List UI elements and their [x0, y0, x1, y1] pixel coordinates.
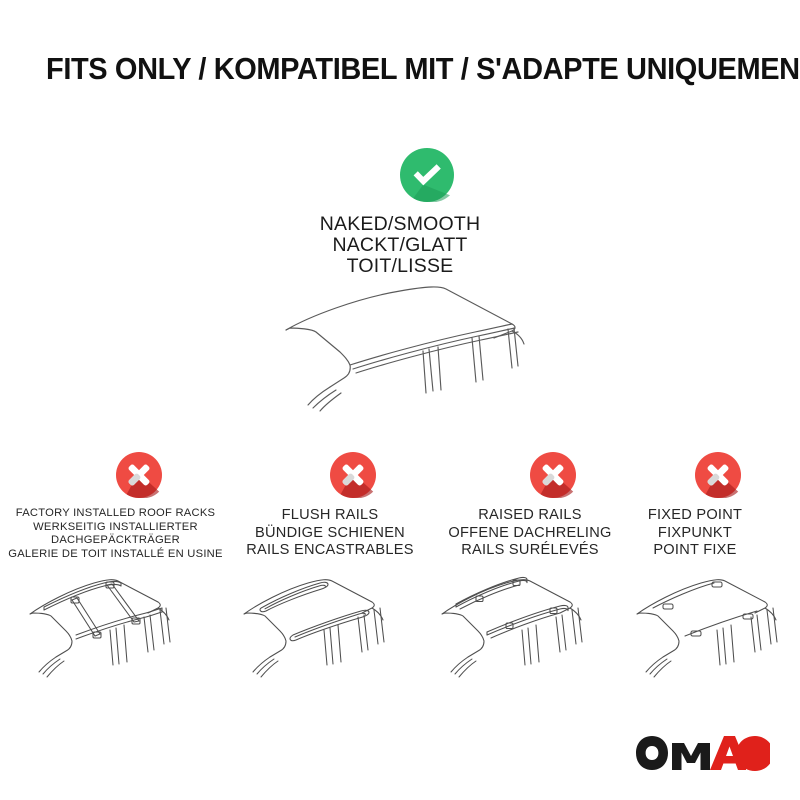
smooth-roof-illustration	[250, 272, 570, 422]
omac-logo	[634, 734, 770, 772]
cross-circle-icon	[672, 452, 718, 498]
cross-circle-icon	[93, 452, 139, 498]
incompatible-column-flush-rails: FLUSH RAILS BÜNDIGE SCHIENEN RAILS ENCAS…	[232, 452, 428, 560]
label-line-2: OFFENE DACHRELING	[428, 525, 632, 543]
label-line-1: FLUSH RAILS	[232, 507, 428, 525]
label-line-2: BÜNDIGE SCHIENEN	[232, 525, 428, 543]
compatible-labels: NAKED/SMOOTH NACKT/GLATT TOIT/LISSE	[0, 214, 800, 277]
page-title: FITS ONLY / KOMPATIBEL MIT / S'ADAPTE UN…	[46, 52, 740, 87]
roof-with-fixed-points-illustration	[615, 552, 800, 702]
compatibility-infographic: FITS ONLY / KOMPATIBEL MIT / S'ADAPTE UN…	[0, 0, 800, 800]
label-line-1: FIXED POINT	[630, 507, 760, 525]
check-circle-icon	[373, 148, 427, 202]
incompatible-column-factory-racks: FACTORY INSTALLED ROOF RACKS WERKSEITIG …	[3, 452, 228, 561]
compatible-label-de: NACKT/GLATT	[0, 235, 800, 256]
cross-circle-icon	[507, 452, 553, 498]
incompatible-column-raised-rails: RAISED RAILS OFFENE DACHRELING RAILS SUR…	[428, 452, 632, 560]
compatible-section: NAKED/SMOOTH NACKT/GLATT TOIT/LISSE	[0, 148, 800, 277]
cross-circle-icon	[307, 452, 353, 498]
label-line-3: DACHGEPÄCKTRÄGER	[3, 534, 228, 548]
label-line-1: RAISED RAILS	[428, 507, 632, 525]
roof-with-raised-rails-illustration	[420, 552, 635, 702]
label-line-2: FIXPUNKT	[630, 525, 760, 543]
label-line-2: WERKSEITIG INSTALLIERTER	[3, 521, 228, 535]
compatible-label-en: NAKED/SMOOTH	[0, 214, 800, 235]
incompatible-column-fixed-point: FIXED POINT FIXPUNKT POINT FIXE	[630, 452, 760, 560]
label-line-1: FACTORY INSTALLED ROOF RACKS	[3, 507, 228, 521]
roof-with-factory-crossbars-illustration	[8, 552, 223, 702]
roof-with-flush-rails-illustration	[222, 552, 437, 702]
